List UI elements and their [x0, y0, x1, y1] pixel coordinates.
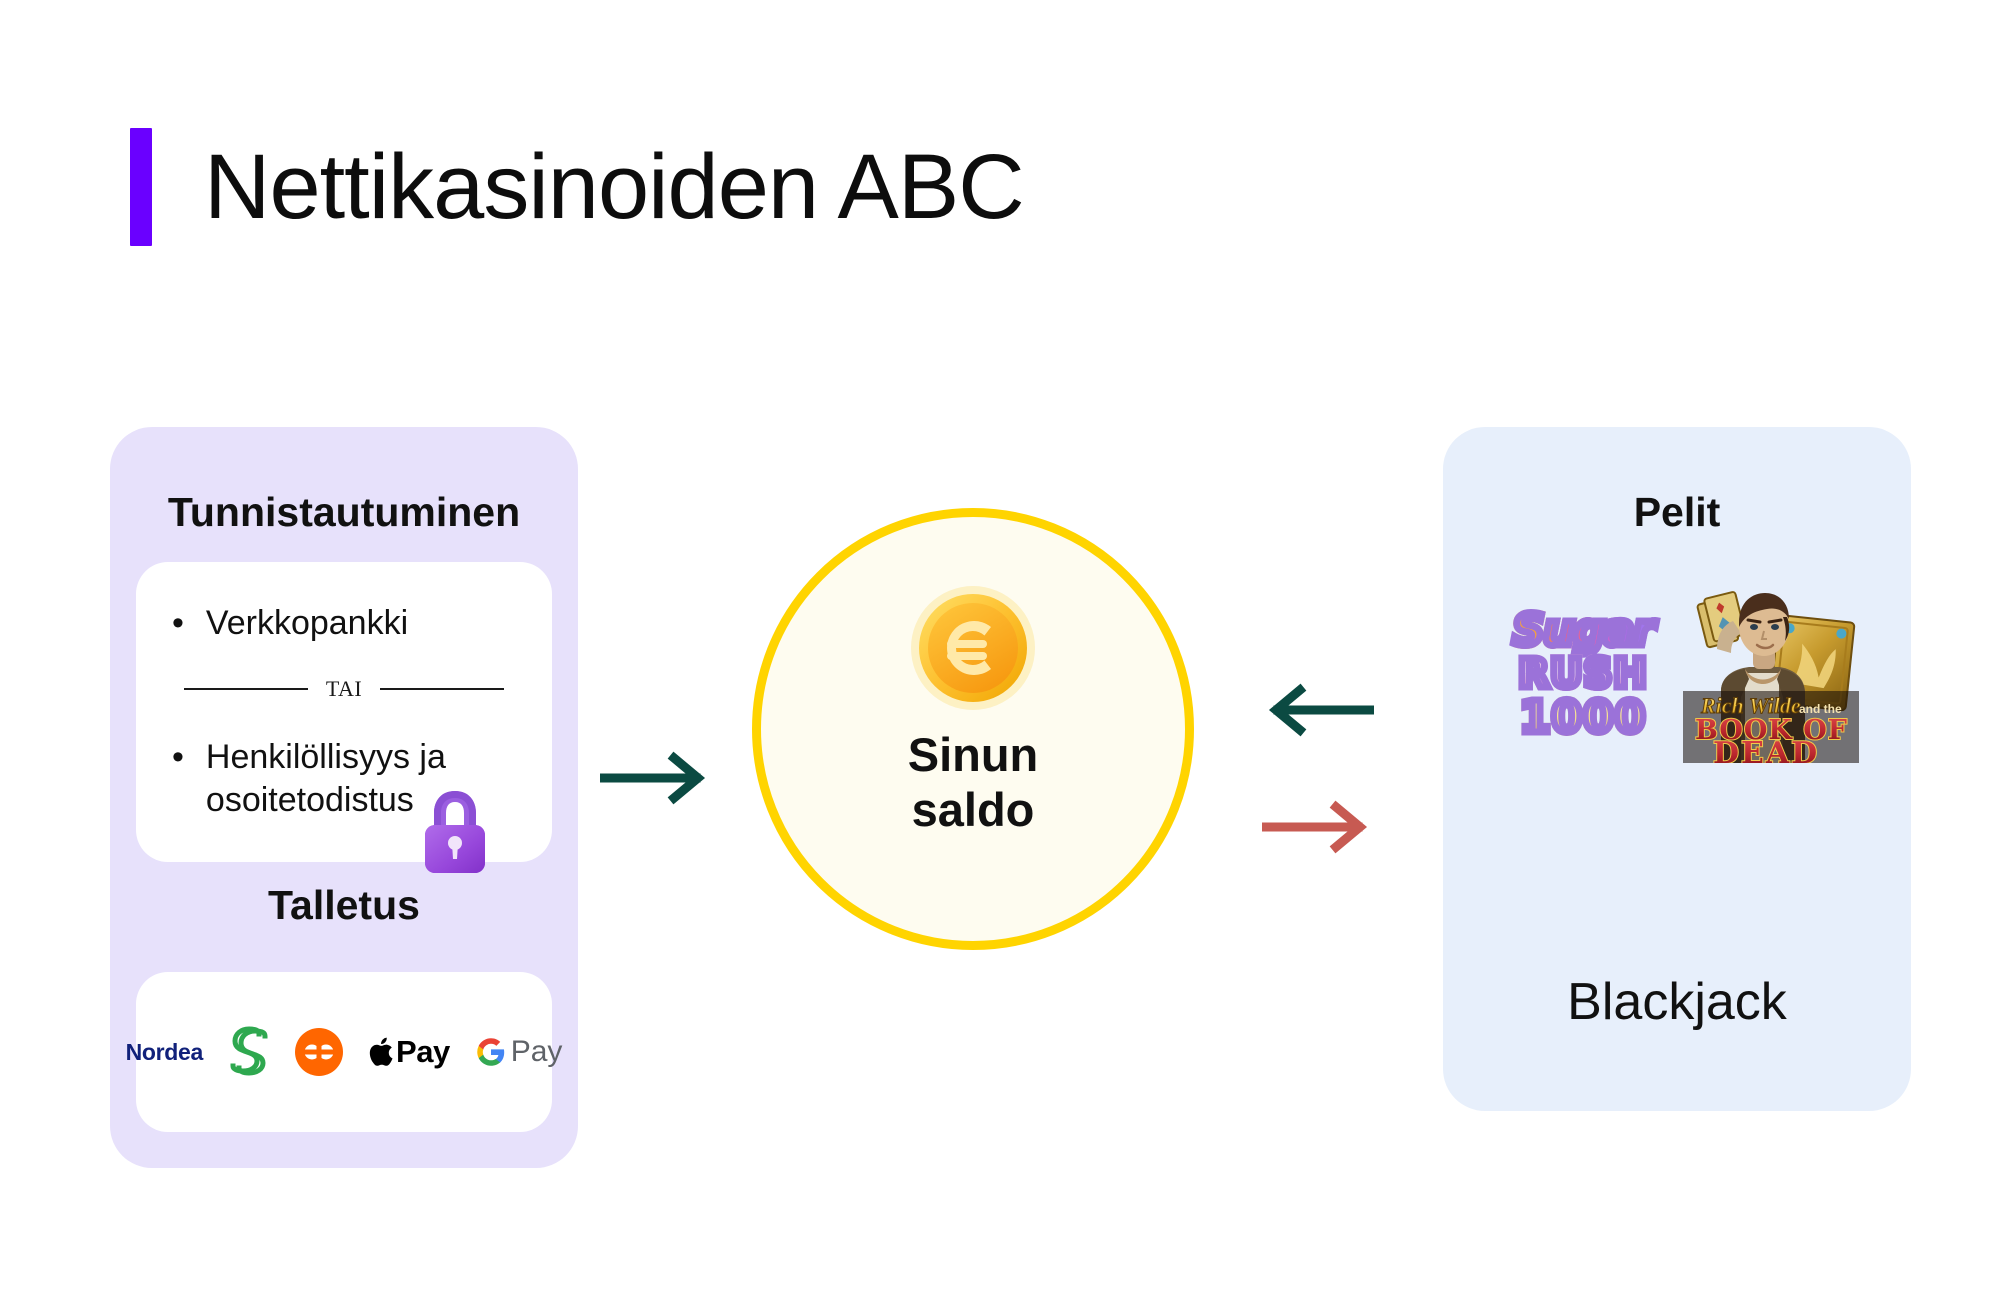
apple-pay-logo: Pay: [369, 1034, 450, 1070]
divider-label: TAI: [326, 676, 362, 702]
lock-icon: [416, 785, 494, 877]
book-of-dead-line4: DEAD: [1713, 736, 1819, 763]
auth-card-heading: Tunnistautuminen: [110, 489, 578, 536]
sugar-rush-line3: 1000: [1520, 696, 1646, 740]
arrow-winnings-to-balance: [1262, 680, 1374, 740]
title-accent-bar: [130, 128, 152, 246]
page-title: Nettikasinoiden ABC: [130, 128, 1024, 246]
divider-line-right: [380, 688, 504, 690]
game-blackjack[interactable]: Blackjack: [1443, 972, 1911, 1032]
authentication-card: Tunnistautuminen • Verkkopankki TAI • He…: [110, 427, 578, 1168]
sugar-rush-line1: Sugar: [1513, 610, 1654, 652]
apple-pay-logo-text: Pay: [396, 1034, 450, 1070]
divider-line-left: [184, 688, 308, 690]
auth-option-label: Verkkopankki: [206, 602, 408, 646]
balance-node: Sinun saldo: [752, 508, 1194, 950]
payment-methods-panel: Nordea: [136, 972, 552, 1132]
arrow-deposit-to-balance: [600, 748, 712, 808]
balance-label: Sinun saldo: [908, 728, 1039, 838]
euro-coin-icon: [907, 582, 1039, 714]
balance-label-line1: Sinun: [908, 728, 1039, 783]
games-card-heading: Pelit: [1443, 489, 1911, 536]
google-pay-logo: Pay: [476, 1035, 563, 1069]
games-card: Pelit Sugar RUSH 1000: [1443, 427, 1911, 1111]
s-pankki-logo: [229, 1026, 269, 1078]
arrow-balance-to-games: [1262, 797, 1374, 857]
bullet-icon: •: [172, 736, 184, 780]
nordea-logo: Nordea: [126, 1039, 203, 1066]
sugar-rush-line2: RUSH: [1518, 654, 1648, 694]
game-book-of-dead[interactable]: Rich Wilde and the BOOK OF DEAD: [1683, 587, 1859, 763]
title-text: Nettikasinoiden ABC: [204, 141, 1024, 233]
balance-label-line2: saldo: [908, 783, 1039, 838]
game-thumbnails: Sugar RUSH 1000: [1443, 587, 1911, 763]
book-of-dead-line2: and the: [1799, 702, 1842, 716]
bullet-icon: •: [172, 602, 184, 646]
nordea-logo-text: Nordea: [126, 1039, 203, 1066]
deposit-heading: Talletus: [110, 882, 578, 929]
auth-option-bank: • Verkkopankki: [136, 602, 552, 646]
google-pay-logo-text: Pay: [511, 1035, 563, 1069]
game-sugar-rush-1000[interactable]: Sugar RUSH 1000: [1495, 587, 1671, 763]
or-divider: TAI: [136, 676, 552, 702]
op-logo: [295, 1028, 343, 1076]
infographic-canvas: Nettikasinoiden ABC Tu: [0, 0, 1998, 1315]
